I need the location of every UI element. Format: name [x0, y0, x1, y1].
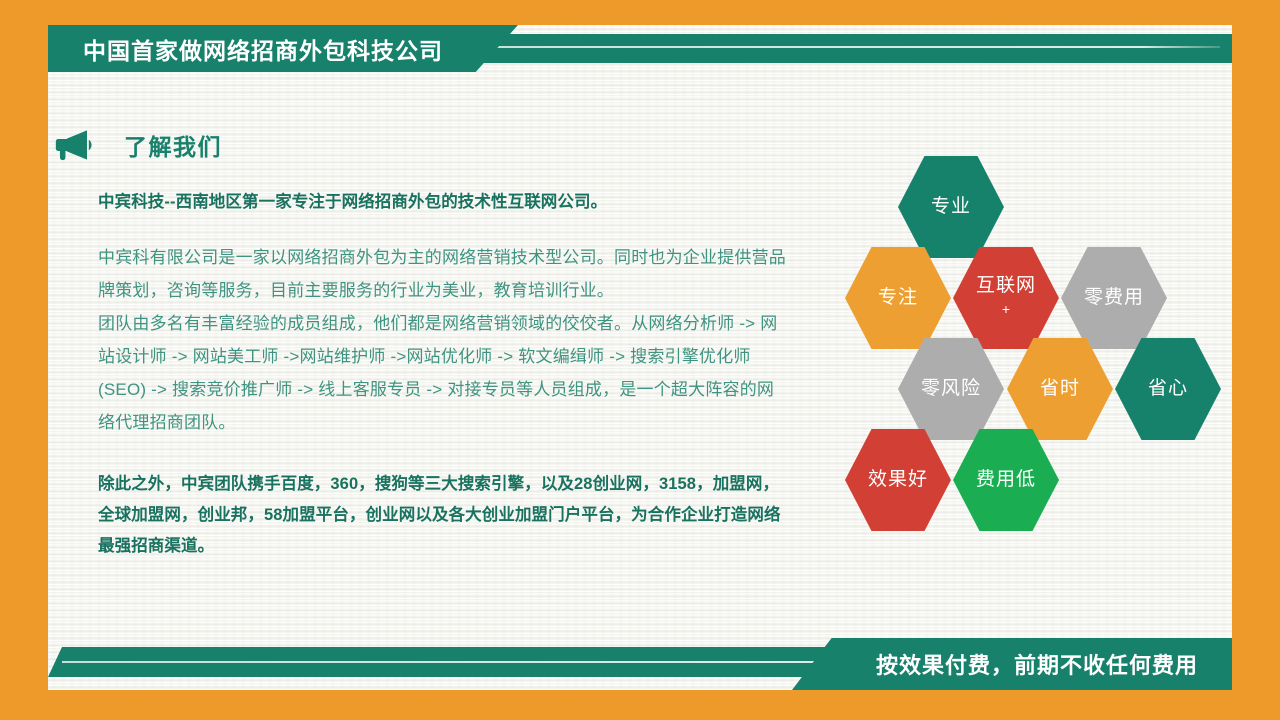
hexagon-8: 效果好 [845, 428, 951, 532]
hexagon-4: 零费用 [1061, 246, 1167, 350]
footer-hairline [62, 661, 942, 663]
section-heading: 了解我们 [48, 128, 222, 162]
paragraph-one: 中宾科有限公司是一家以网络招商外包为主的网络营销技术型公司。同时也为企业提供营品… [98, 241, 788, 307]
slide-canvas: 中国首家做网络招商外包科技公司 了解我们 中宾科技--西南地区第一家专注于网络招… [0, 0, 1280, 720]
hexagon-3: 互联网+ [953, 246, 1059, 350]
hexagon-label: 互联网 [976, 276, 1036, 297]
hexagon-2: 专注 [845, 246, 951, 350]
megaphone-icon [54, 128, 98, 162]
footer-tagline: 按效果付费，前期不收任何费用 [876, 648, 1232, 680]
hexagon-label: 省心 [1148, 379, 1188, 400]
page-title: 中国首家做网络招商外包科技公司 [48, 32, 443, 66]
hexagon-7: 省心 [1115, 337, 1221, 441]
lead-statement: 中宾科技--西南地区第一家专注于网络招商外包的技术性互联网公司。 [98, 190, 788, 215]
paragraph-two: 团队由多名有丰富经验的成员组成，他们都是网络营销领域的佼佼者。从网络分析师 ->… [98, 307, 788, 439]
hexagon-label: 费用低 [976, 470, 1036, 491]
hexagon-6: 省时 [1007, 337, 1113, 441]
hexagon-cluster: 专业专注互联网+零费用零风险省时省心效果好费用低 [830, 155, 1230, 545]
hexagon-label: 零风险 [921, 379, 981, 400]
hexagon-label: 效果好 [868, 470, 928, 491]
section-heading-label: 了解我们 [124, 128, 222, 162]
hexagon-label: 专注 [878, 288, 918, 309]
hexagon-label: 零费用 [1084, 288, 1144, 309]
about-copy: 中宾科技--西南地区第一家专注于网络招商外包的技术性互联网公司。 中宾科有限公司… [98, 190, 788, 562]
header-title-block: 中国首家做网络招商外包科技公司 [48, 25, 518, 72]
hexagon-label: 省时 [1040, 379, 1080, 400]
footer-tag-block: 按效果付费，前期不收任何费用 [792, 638, 1232, 690]
hexagon-5: 零风险 [898, 337, 1004, 441]
closing-statement: 除此之外，中宾团队携手百度，360，搜狗等三大搜索引擎，以及28创业网，3158… [98, 469, 788, 562]
hexagon-sublabel: + [1002, 299, 1010, 320]
hexagon-9: 费用低 [953, 428, 1059, 532]
hexagon-label: 专业 [931, 197, 971, 218]
hexagon-1: 专业 [898, 155, 1004, 259]
